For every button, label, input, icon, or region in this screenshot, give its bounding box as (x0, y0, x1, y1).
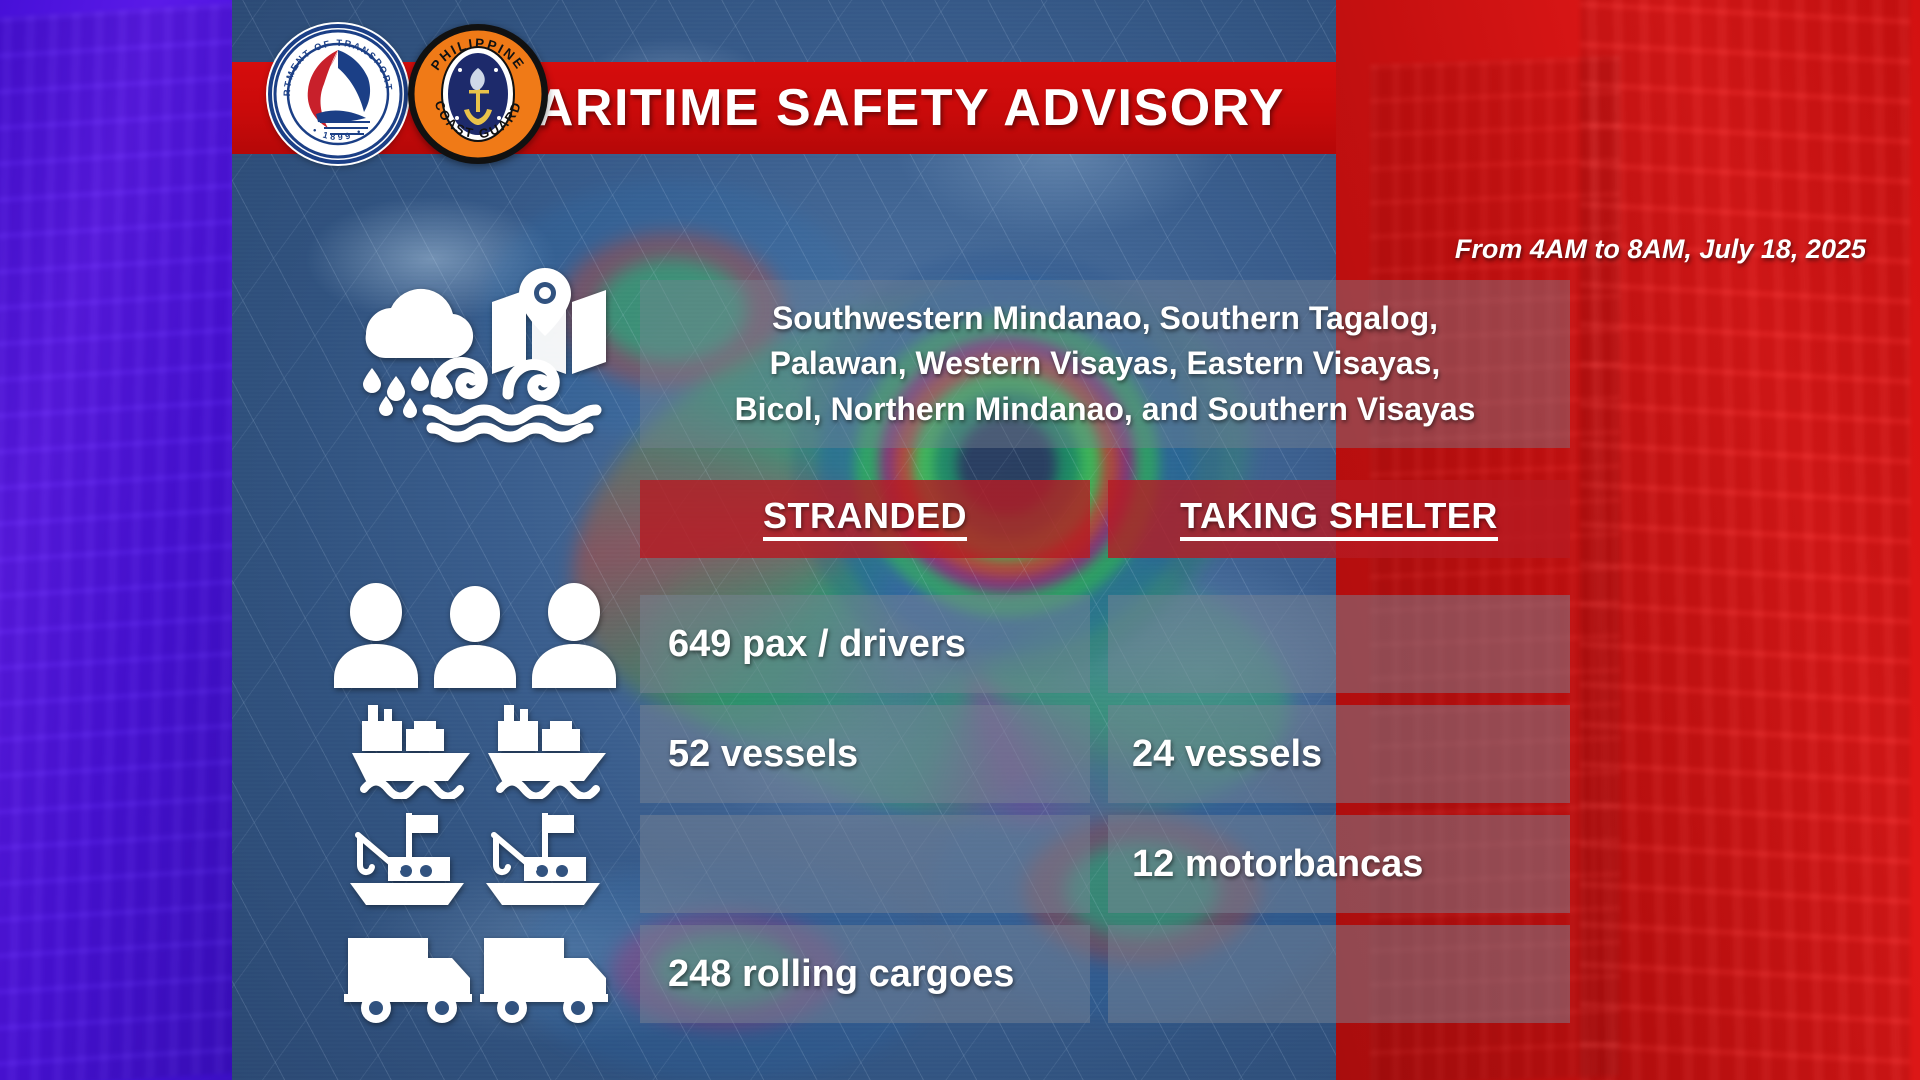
wave-line-icon (500, 782, 596, 797)
shelter-cell: 12 motorbancas (1108, 815, 1570, 913)
people-icon (334, 583, 616, 688)
waves-icon (428, 362, 596, 437)
people-icon-group (330, 580, 620, 690)
region-line-2: Palawan, Western Visayas, Eastern Visaya… (770, 341, 1441, 386)
rain-cloud-icon (363, 289, 473, 418)
stranded-cell (640, 815, 1090, 913)
column-header-stranded: STRANDED (640, 480, 1090, 558)
region-line-1: Southwestern Mindanao, Southern Tagalog, (772, 296, 1438, 341)
advisory-timeframe: From 4AM to 8AM, July 18, 2025 (1455, 234, 1866, 265)
cargo-ship-icon-group (330, 693, 620, 801)
rolling-cargo-icon (480, 938, 608, 1023)
table-row: 248 rolling cargoes (640, 925, 1570, 1023)
shelter-cell (1108, 925, 1570, 1023)
philippine-coast-guard-seal: PHILIPPINE COAST GUARD (408, 24, 548, 164)
shelter-value: 24 vessels (1132, 733, 1322, 776)
weather-icon-cluster (330, 258, 620, 448)
row-gap (1090, 815, 1108, 913)
column-header-taking-shelter: TAKING SHELTER (1108, 480, 1570, 558)
cargo-ship-icon (352, 705, 470, 781)
motorbanca-icon-group (330, 803, 620, 915)
shelter-cell (1108, 595, 1570, 693)
building-texture-left (0, 1, 232, 1080)
row-gap (1090, 925, 1108, 1023)
stranded-cell: 52 vessels (640, 705, 1090, 803)
stranded-value: 52 vessels (668, 733, 858, 776)
region-line-3: Bicol, Northern Mindanao, and Southern V… (735, 387, 1476, 432)
stranded-cell: 649 pax / drivers (640, 595, 1090, 693)
stranded-cell: 248 rolling cargoes (640, 925, 1090, 1023)
shelter-value: 12 motorbancas (1132, 843, 1423, 886)
rolling-cargo-icon (344, 938, 472, 1023)
stranded-value: 649 pax / drivers (668, 623, 966, 666)
wave-line-icon (364, 782, 460, 797)
advisory-poster: MARITIME SAFETY ADVISORY DEPARTMENT OF T… (0, 0, 1920, 1080)
affected-regions-box: Southwestern Mindanao, Southern Tagalog,… (640, 280, 1570, 448)
building-texture-right-front (1580, 0, 1910, 1080)
taking-shelter-label: TAKING SHELTER (1180, 497, 1498, 541)
map-pin-icon (492, 268, 606, 374)
rolling-cargo-icon-group (330, 922, 620, 1028)
dotr-seal: DEPARTMENT OF TRANSPORTATION • 1899 • (268, 24, 408, 164)
table-row: 649 pax / drivers (640, 595, 1570, 693)
row-gap (1090, 595, 1108, 693)
shelter-cell: 24 vessels (1108, 705, 1570, 803)
table-row: 12 motorbancas (640, 815, 1570, 913)
table-row: 52 vessels 24 vessels (640, 705, 1570, 803)
motorbanca-icon (486, 813, 600, 905)
cargo-ship-icon (488, 705, 606, 781)
left-decor-panel (0, 0, 232, 1080)
stranded-label: STRANDED (763, 497, 967, 541)
stranded-value: 248 rolling cargoes (668, 953, 1014, 996)
motorbanca-icon (350, 813, 464, 905)
row-gap (1090, 705, 1108, 803)
